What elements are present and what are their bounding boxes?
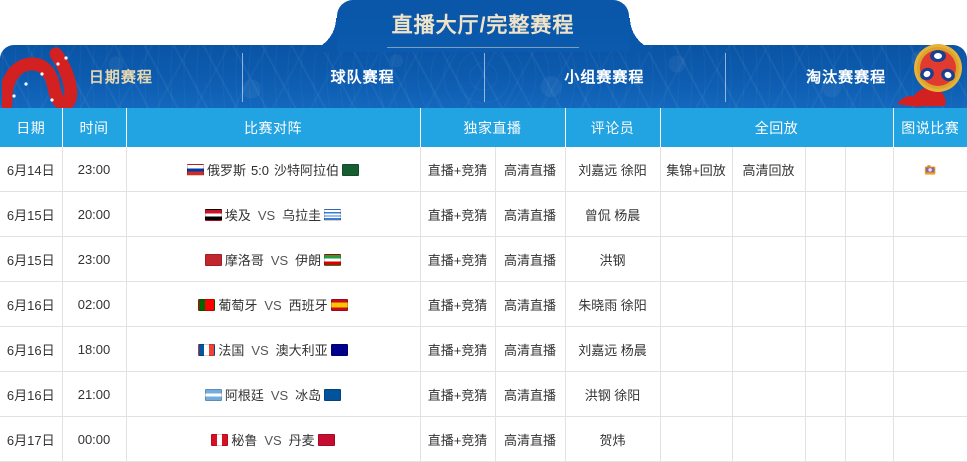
match-vs-separator: VS xyxy=(264,298,281,313)
away-team-flag-icon xyxy=(331,344,348,356)
cell-time: 18:00 xyxy=(62,327,126,372)
table-header-row: 日期 时间 比赛对阵 独家直播 评论员 全回放 图说比赛 xyxy=(0,108,967,147)
match-vs-separator: VS xyxy=(271,253,288,268)
cell-time: 20:00 xyxy=(62,192,126,237)
table-row: 6月16日18:00法国VS澳大利亚直播+竞猜高清直播刘嘉远 杨晨 xyxy=(0,327,967,372)
table-row: 6月16日02:00葡萄牙VS西班牙直播+竞猜高清直播朱晓雨 徐阳 xyxy=(0,282,967,327)
cell-hd-live-link[interactable]: 高清直播 xyxy=(495,282,565,327)
cell-live-bet-link[interactable]: 直播+竞猜 xyxy=(420,372,495,417)
match-schedule-table: 日期 时间 比赛对阵 独家直播 评论员 全回放 图说比赛 6月14日23:00俄… xyxy=(0,108,967,462)
cell-highlights-replay-link[interactable] xyxy=(660,327,732,372)
cell-match-photos[interactable] xyxy=(893,237,967,282)
home-team-flag-icon xyxy=(205,389,222,401)
column-header-match: 比赛对阵 xyxy=(126,108,420,147)
cell-match[interactable]: 葡萄牙VS西班牙 xyxy=(126,282,420,327)
cell-time: 23:00 xyxy=(62,237,126,282)
cell-replay-extra-1[interactable] xyxy=(805,147,845,192)
cell-highlights-replay-link[interactable]: 集锦+回放 xyxy=(660,147,732,192)
cell-replay-extra-2[interactable] xyxy=(845,147,893,192)
column-header-commentator: 评论员 xyxy=(565,108,660,147)
cell-replay-extra-1[interactable] xyxy=(805,372,845,417)
photo-icon[interactable] xyxy=(924,164,937,177)
home-team-flag-icon xyxy=(205,254,222,266)
cell-live-bet-link[interactable]: 直播+竞猜 xyxy=(420,192,495,237)
cell-date: 6月16日 xyxy=(0,372,62,417)
away-team-name: 伊朗 xyxy=(295,253,321,268)
home-team-flag-icon xyxy=(187,164,204,176)
cell-date: 6月16日 xyxy=(0,327,62,372)
tab-team-schedule[interactable]: 球队赛程 xyxy=(242,45,484,108)
cell-match-photos[interactable] xyxy=(893,417,967,462)
cell-replay-extra-1[interactable] xyxy=(805,417,845,462)
cell-match[interactable]: 阿根廷VS冰岛 xyxy=(126,372,420,417)
cell-date: 6月17日 xyxy=(0,417,62,462)
away-team-name: 西班牙 xyxy=(289,298,328,313)
home-team-flag-icon xyxy=(198,299,215,311)
cell-replay-extra-1[interactable] xyxy=(805,192,845,237)
cell-hd-live-link[interactable]: 高清直播 xyxy=(495,147,565,192)
home-team-name: 法国 xyxy=(218,343,244,358)
cell-hd-replay-link[interactable] xyxy=(732,327,805,372)
home-team-name: 埃及 xyxy=(225,208,251,223)
cell-hd-replay-link[interactable]: 高清回放 xyxy=(732,147,805,192)
away-team-flag-icon xyxy=(318,434,335,446)
cell-date: 6月14日 xyxy=(0,147,62,192)
cell-hd-replay-link[interactable] xyxy=(732,372,805,417)
away-team-flag-icon xyxy=(342,164,359,176)
cell-replay-extra-2[interactable] xyxy=(845,372,893,417)
home-team-name: 俄罗斯 xyxy=(207,163,246,178)
cell-match-photos[interactable] xyxy=(893,147,967,192)
cell-match-photos[interactable] xyxy=(893,372,967,417)
match-vs-separator: VS xyxy=(251,343,268,358)
cell-time: 23:00 xyxy=(62,147,126,192)
cell-match[interactable]: 埃及VS乌拉圭 xyxy=(126,192,420,237)
tab-knockout-schedule-label: 淘汰赛赛程 xyxy=(806,66,886,87)
cell-match[interactable]: 摩洛哥VS伊朗 xyxy=(126,237,420,282)
cell-replay-extra-2[interactable] xyxy=(845,417,893,462)
cell-match-photos[interactable] xyxy=(893,327,967,372)
home-team-name: 葡萄牙 xyxy=(218,298,257,313)
cell-match[interactable]: 俄罗斯5:0沙特阿拉伯 xyxy=(126,147,420,192)
home-team-flag-icon xyxy=(211,434,228,446)
cell-hd-replay-link[interactable] xyxy=(732,237,805,282)
away-team-name: 沙特阿拉伯 xyxy=(274,163,339,178)
cell-highlights-replay-link[interactable] xyxy=(660,372,732,417)
schedule-tabs[interactable]: 日期赛程 球队赛程 小组赛赛程 淘汰赛赛程 xyxy=(0,45,967,108)
away-team-name: 乌拉圭 xyxy=(282,208,321,223)
cell-hd-live-link[interactable]: 高清直播 xyxy=(495,192,565,237)
cell-commentator: 曾侃 杨晨 xyxy=(565,192,660,237)
cell-commentator: 朱晓雨 徐阳 xyxy=(565,282,660,327)
table-row: 6月17日00:00秘鲁VS丹麦直播+竞猜高清直播贺炜 xyxy=(0,417,967,462)
cell-replay-extra-2[interactable] xyxy=(845,237,893,282)
cell-replay-extra-2[interactable] xyxy=(845,327,893,372)
column-header-date: 日期 xyxy=(0,108,62,147)
match-score: 5:0 xyxy=(251,163,269,178)
tab-date-schedule[interactable]: 日期赛程 xyxy=(0,45,242,108)
cell-hd-replay-link[interactable] xyxy=(732,282,805,327)
table-row: 6月15日20:00埃及VS乌拉圭直播+竞猜高清直播曾侃 杨晨 xyxy=(0,192,967,237)
cell-highlights-replay-link[interactable] xyxy=(660,192,732,237)
cell-match[interactable]: 秘鲁VS丹麦 xyxy=(126,417,420,462)
tab-knockout-schedule[interactable]: 淘汰赛赛程 xyxy=(725,45,967,108)
page-banner: 直播大厅/完整赛程 日期赛程 xyxy=(0,0,967,108)
match-vs-separator: VS xyxy=(258,208,275,223)
table-row: 6月15日23:00摩洛哥VS伊朗直播+竞猜高清直播洪钢 xyxy=(0,237,967,282)
home-team-flag-icon xyxy=(198,344,215,356)
cell-live-bet-link[interactable]: 直播+竞猜 xyxy=(420,282,495,327)
away-team-flag-icon xyxy=(324,209,341,221)
cell-commentator: 刘嘉远 杨晨 xyxy=(565,327,660,372)
tab-date-schedule-label: 日期赛程 xyxy=(89,66,153,87)
cell-replay-extra-1[interactable] xyxy=(805,327,845,372)
cell-hd-live-link[interactable]: 高清直播 xyxy=(495,327,565,372)
cell-hd-live-link[interactable]: 高清直播 xyxy=(495,417,565,462)
home-team-flag-icon xyxy=(205,209,222,221)
cell-time: 02:00 xyxy=(62,282,126,327)
cell-live-bet-link[interactable]: 直播+竞猜 xyxy=(420,417,495,462)
away-team-name: 冰岛 xyxy=(295,388,321,403)
cell-hd-live-link[interactable]: 高清直播 xyxy=(495,372,565,417)
tab-team-schedule-label: 球队赛程 xyxy=(331,66,395,87)
cell-hd-live-link[interactable]: 高清直播 xyxy=(495,237,565,282)
home-team-name: 阿根廷 xyxy=(225,388,264,403)
column-header-time: 时间 xyxy=(62,108,126,147)
cell-live-bet-link[interactable]: 直播+竞猜 xyxy=(420,147,495,192)
cell-highlights-replay-link[interactable] xyxy=(660,237,732,282)
cell-highlights-replay-link[interactable] xyxy=(660,417,732,462)
cell-commentator: 贺炜 xyxy=(565,417,660,462)
cell-live-bet-link[interactable]: 直播+竞猜 xyxy=(420,327,495,372)
column-header-full-replay: 全回放 xyxy=(660,108,893,147)
cell-date: 6月15日 xyxy=(0,192,62,237)
cell-time: 00:00 xyxy=(62,417,126,462)
cell-commentator: 洪钢 xyxy=(565,237,660,282)
cell-highlights-replay-link[interactable] xyxy=(660,282,732,327)
match-vs-separator: VS xyxy=(271,388,288,403)
cell-replay-extra-2[interactable] xyxy=(845,192,893,237)
table-body: 6月14日23:00俄罗斯5:0沙特阿拉伯直播+竞猜高清直播刘嘉远 徐阳集锦+回… xyxy=(0,147,967,462)
cell-commentator: 洪钢 徐阳 xyxy=(565,372,660,417)
cell-date: 6月16日 xyxy=(0,282,62,327)
cell-match-photos[interactable] xyxy=(893,192,967,237)
away-team-flag-icon xyxy=(324,389,341,401)
cell-hd-replay-link[interactable] xyxy=(732,192,805,237)
cell-match-photos[interactable] xyxy=(893,282,967,327)
table-row: 6月16日21:00阿根廷VS冰岛直播+竞猜高清直播洪钢 徐阳 xyxy=(0,372,967,417)
home-team-name: 摩洛哥 xyxy=(225,253,264,268)
cell-replay-extra-1[interactable] xyxy=(805,237,845,282)
cell-live-bet-link[interactable]: 直播+竞猜 xyxy=(420,237,495,282)
cell-replay-extra-1[interactable] xyxy=(805,282,845,327)
cell-date: 6月15日 xyxy=(0,237,62,282)
column-header-exclusive-live: 独家直播 xyxy=(420,108,565,147)
table-row: 6月14日23:00俄罗斯5:0沙特阿拉伯直播+竞猜高清直播刘嘉远 徐阳集锦+回… xyxy=(0,147,967,192)
page-title: 直播大厅/完整赛程 xyxy=(337,9,629,43)
cell-hd-replay-link[interactable] xyxy=(732,417,805,462)
cell-replay-extra-2[interactable] xyxy=(845,282,893,327)
schedule-page: 直播大厅/完整赛程 日期赛程 xyxy=(0,0,967,435)
tab-group-stage-schedule-label: 小组赛赛程 xyxy=(564,66,644,87)
away-team-flag-icon xyxy=(331,299,348,311)
cell-commentator: 刘嘉远 徐阳 xyxy=(565,147,660,192)
column-header-match-photos: 图说比赛 xyxy=(893,108,967,147)
away-team-flag-icon xyxy=(324,254,341,266)
cell-match[interactable]: 法国VS澳大利亚 xyxy=(126,327,420,372)
tab-group-stage-schedule[interactable]: 小组赛赛程 xyxy=(484,45,726,108)
cell-time: 21:00 xyxy=(62,372,126,417)
away-team-name: 澳大利亚 xyxy=(276,343,328,358)
